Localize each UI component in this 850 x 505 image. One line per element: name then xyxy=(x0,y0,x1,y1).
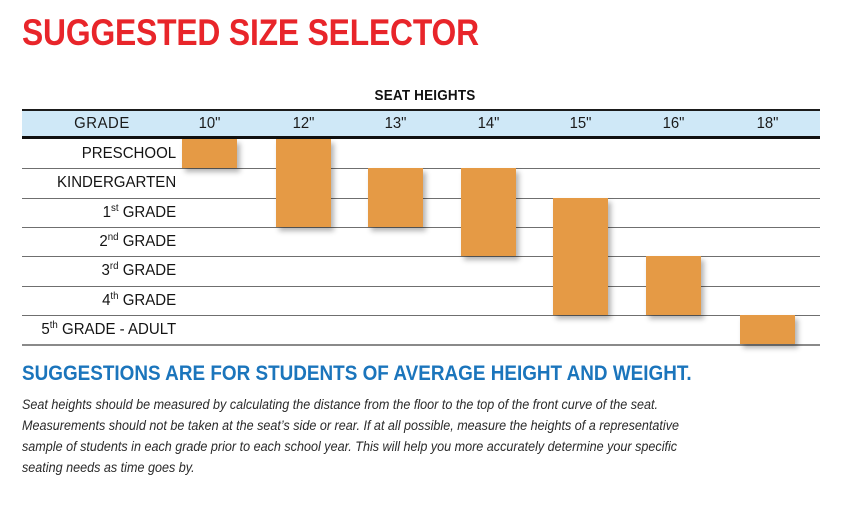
column-header-size-2: 12" xyxy=(260,111,346,136)
column-header-size-7: 18" xyxy=(724,111,810,136)
column-header-grade: GRADE xyxy=(28,111,177,136)
size-bar-13in xyxy=(368,168,423,227)
grade-row-label: PRESCHOOL xyxy=(27,139,182,168)
size-selector-infographic: SUGGESTED SIZE SELECTOR SEAT HEIGHTS GRA… xyxy=(0,0,850,505)
grade-row-label: KINDERGARTEN xyxy=(27,168,182,197)
size-chart-table: GRADE 10"12"13"14"15"16"18" PRESCHOOLKIN… xyxy=(22,109,820,345)
column-header-size-5: 15" xyxy=(537,111,623,136)
grade-row-label: 2nd GRADE xyxy=(27,227,182,256)
seat-heights-caption: SEAT HEIGHTS xyxy=(43,87,808,104)
column-header-size-4: 14" xyxy=(445,111,531,136)
footer-paragraph-line: Seat heights should be measured by calcu… xyxy=(22,394,765,415)
column-header-size-3: 13" xyxy=(352,111,438,136)
size-bar-18in xyxy=(740,315,795,344)
column-header-size-6: 16" xyxy=(630,111,716,136)
grade-row-label: 4th GRADE xyxy=(27,286,182,315)
column-header-size-1: 10" xyxy=(166,111,252,136)
row-gridline xyxy=(22,344,820,346)
page-title: SUGGESTED SIZE SELECTOR xyxy=(22,14,479,53)
size-bar-16in xyxy=(646,256,701,315)
grade-row-label: 3rd GRADE xyxy=(27,256,182,285)
size-bar-12in xyxy=(276,139,331,227)
grade-row-label: 5th GRADE - ADULT xyxy=(27,315,182,344)
grade-row-label: 1st GRADE xyxy=(27,198,182,227)
size-bar-15in xyxy=(553,198,608,315)
footer-paragraph: Seat heights should be measured by calcu… xyxy=(22,394,765,478)
size-bar-10in xyxy=(182,139,237,168)
footer-heading: SUGGESTIONS ARE FOR STUDENTS OF AVERAGE … xyxy=(22,362,692,386)
size-bar-14in xyxy=(461,168,516,256)
footer-paragraph-line: seating needs as time goes by. xyxy=(22,457,765,478)
footer-paragraph-line: sample of students in each grade prior t… xyxy=(22,436,765,457)
footer-paragraph-line: Measurements should not be taken at the … xyxy=(22,415,765,436)
